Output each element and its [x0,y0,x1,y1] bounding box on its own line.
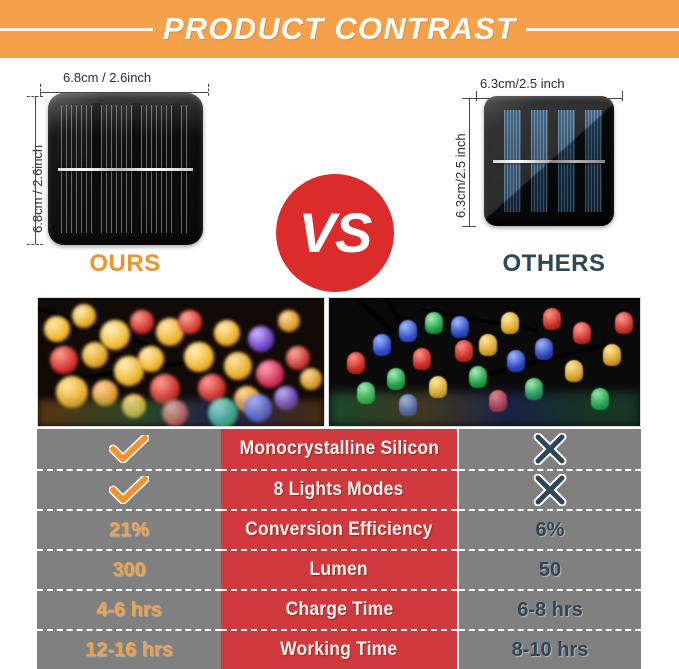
ours-value: 300 [112,559,145,582]
table-row: Working Time [221,629,457,669]
others-value: 50 [539,559,561,582]
check-icon [109,476,149,504]
versus-badge: VS [276,174,394,292]
others-solar-panel-image [484,96,614,226]
table-row: 21% [37,509,221,549]
ours-width-tick-right [208,84,209,96]
ours-busbar [58,168,193,171]
others-height-line [469,98,470,226]
table-row: 6% [459,509,641,549]
table-row: 50 [459,549,641,589]
ours-height-tick-bottom [27,244,43,245]
photo-strip [37,297,641,427]
versus-label: VS [299,205,372,261]
table-row [459,469,641,509]
header-rule-left [0,28,153,31]
table-row: 12-16 hrs [37,629,221,669]
others-height-label: 6.3cm/2.5 inch [453,133,468,218]
table-row: 8 Lights Modes [221,469,457,509]
feature-label: Monocrystalline Silicon [239,438,438,460]
others-led-photo [328,297,641,427]
page-title: PRODUCT CONTRAST [153,11,526,47]
table-row [37,429,221,469]
ours-width-label: 6.8cm / 2.6inch [63,70,151,85]
ours-solar-panel-image [48,93,203,245]
ours-led-photo [37,297,325,427]
table-row: Conversion Efficiency [221,509,457,549]
others-width-tick-left [476,91,477,101]
ours-caption: OURS [0,250,250,278]
product-contrast-infographic: PRODUCT CONTRAST 6.8cm / 2.6inch 6.8cm /… [0,0,679,669]
table-row: Monocrystalline Silicon [221,429,457,469]
feature-label: 8 Lights Modes [274,479,404,501]
ours-height-label: 6.8cm / 2.6inch [30,145,45,233]
feature-label: Charge Time [285,599,393,621]
table-row [459,429,641,469]
panel-comparison-area: 6.8cm / 2.6inch 6.8cm / 2.6inch OURS 6.3… [0,58,679,290]
table-column-others: 6% 50 6-8 hrs 8-10 hrs [459,429,641,669]
feature-label: Conversion Efficiency [245,519,432,541]
ours-height-tick-top [27,96,43,97]
ours-width-tick-left [40,84,41,96]
others-value: 8-10 hrs [512,639,589,662]
table-row: 4-6 hrs [37,589,221,629]
table-row: 8-10 hrs [459,629,641,669]
feature-label: Working Time [280,639,397,661]
others-panel-group: 6.3cm/2.5 inch 6.3cm/2.5 inch OTHERS [429,58,679,290]
others-width-label: 6.3cm/2.5 inch [480,76,565,91]
table-row: 6-8 hrs [459,589,641,629]
table-row: Lumen [221,549,457,589]
table-row: Charge Time [221,589,457,629]
others-value: 6% [536,519,565,542]
header-rule-right [526,28,679,31]
table-row [37,469,221,509]
others-height-tick-bottom [462,226,476,227]
table-column-features: Monocrystalline Silicon 8 Lights Modes C… [221,429,457,669]
feature-label: Lumen [310,559,368,581]
others-value: 6-8 hrs [517,599,583,622]
header-banner: PRODUCT CONTRAST [0,0,679,58]
others-caption: OTHERS [429,250,679,278]
cross-icon [533,474,567,506]
table-column-ours: 21% 300 4-6 hrs 12-16 hrs [37,429,221,669]
others-width-tick-right [622,91,623,101]
check-icon [109,435,149,463]
cross-icon [533,433,567,465]
ours-value: 4-6 hrs [96,599,162,622]
table-row: 300 [37,549,221,589]
ours-height-line [35,96,36,244]
others-panel-sheen [484,96,614,226]
ours-panel-group: 6.8cm / 2.6inch 6.8cm / 2.6inch OURS [0,58,250,290]
ours-value: 12-16 hrs [85,639,173,662]
comparison-table: 21% 300 4-6 hrs 12-16 hrs Monocrystallin… [37,429,641,669]
ours-panel-gloss [48,93,203,136]
ours-value: 21% [109,519,149,542]
others-height-tick-top [462,98,476,99]
